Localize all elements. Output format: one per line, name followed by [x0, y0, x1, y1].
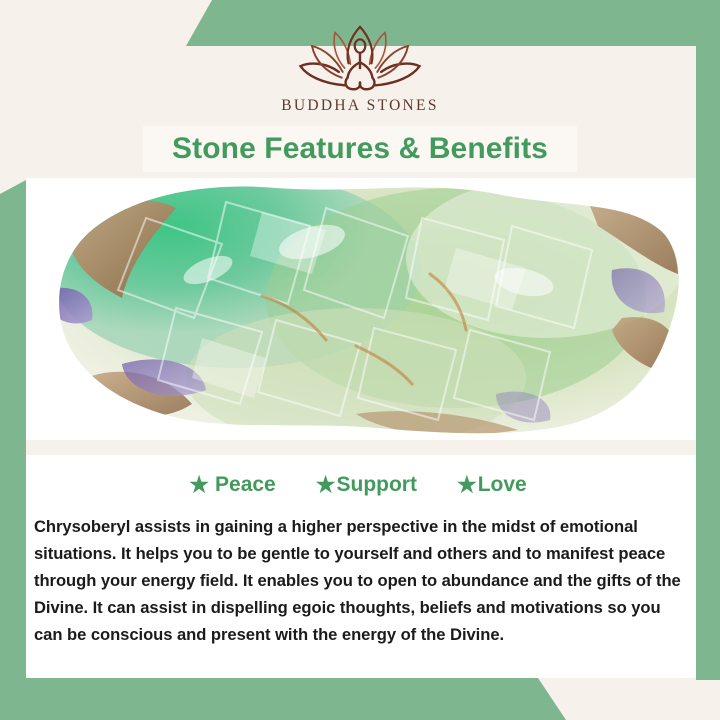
keyword-badge-support: ★ Support — [316, 473, 417, 497]
star-icon: ★ — [457, 474, 477, 496]
keyword-badge-peace: ★ Peace — [189, 473, 275, 497]
keyword-label: Love — [478, 473, 527, 497]
keyword-badge-love: ★ Love — [457, 473, 527, 497]
page-title-bar: Stone Features & Benefits — [143, 126, 577, 172]
stone-details: ★ Peace ★ Support ★ Love Chrysoberyl ass… — [26, 455, 696, 678]
keyword-label: Support — [336, 473, 416, 497]
card-header: BUDDHA STONES Stone Features & Benefits — [0, 0, 720, 185]
stone-photo: Chrysoberyl（Cat's Eye） — [26, 178, 696, 440]
brand-name: BUDDHA STONES — [281, 97, 439, 115]
stone-description: Chrysoberyl assists in gaining a higher … — [34, 514, 682, 648]
frame-left-band — [0, 180, 26, 702]
frame-bottom-band — [0, 678, 720, 720]
star-icon: ★ — [316, 474, 336, 496]
page-title: Stone Features & Benefits — [172, 132, 548, 166]
keyword-badges: ★ Peace ★ Support ★ Love — [30, 465, 686, 505]
keyword-label: Peace — [215, 473, 276, 497]
stone-info-card: BUDDHA STONES Stone Features & Benefits — [0, 0, 720, 720]
star-icon: ★ — [189, 474, 209, 496]
lotus-meditation-icon — [285, 22, 435, 94]
